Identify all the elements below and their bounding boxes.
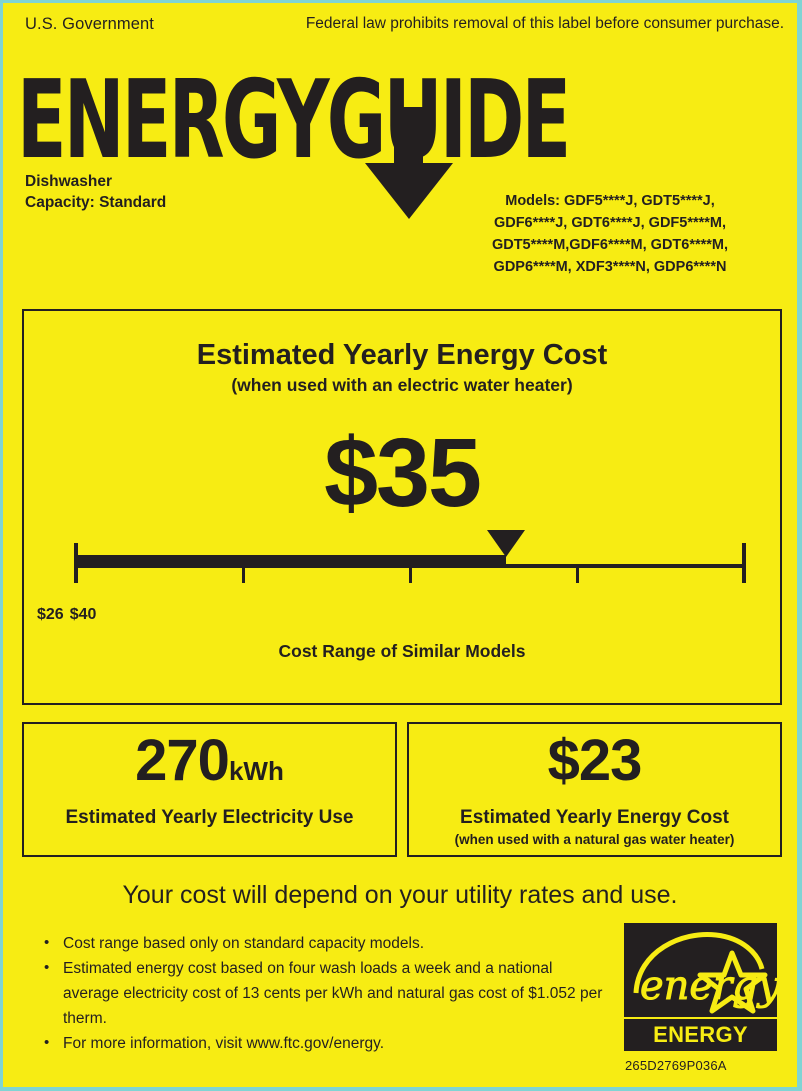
electricity-caption: Estimated Yearly Electricity Use — [24, 807, 395, 829]
svg-text:energy: energy — [640, 963, 777, 1009]
scale-tick — [409, 566, 412, 583]
estimated-yearly-electricity-use-box: 270kWh Estimated Yearly Electricity Use — [22, 722, 397, 857]
cost-range-high: $40 — [70, 606, 97, 623]
electricity-value: 270 — [135, 728, 229, 793]
footer-note: Cost range based only on standard capaci… — [41, 931, 611, 956]
footer-notes: Cost range based only on standard capaci… — [41, 931, 611, 1056]
scale-tick — [576, 566, 579, 583]
scale-endcap-left — [74, 543, 78, 583]
model-numbers: Models: GDF5****J, GDT5****J, GDF6****J,… — [445, 190, 775, 278]
gas-cost-subcaption: (when used with a natural gas water heat… — [409, 832, 780, 847]
scale-endcap-right — [742, 543, 746, 583]
electricity-unit: kWh — [229, 756, 284, 786]
gas-cost-caption: Estimated Yearly Energy Cost — [409, 807, 780, 829]
footer-headline: Your cost will depend on your utility ra… — [3, 881, 797, 910]
energy-star-mark-icon: energy — [624, 923, 777, 1017]
footer-note: Estimated energy cost based on four wash… — [41, 956, 611, 1031]
main-cost-value: $35 — [24, 423, 780, 523]
model-line: GDT5****M,GDF6****M, GDT6****M, — [445, 234, 775, 256]
energy-star-logo: energy ENERGY STAR — [624, 923, 777, 1053]
electricity-value-row: 270kWh — [24, 730, 395, 802]
cost-range-caption: Cost Range of Similar Models — [24, 641, 780, 662]
gas-cost-value: $23 — [409, 730, 780, 792]
down-arrow-stem-icon — [394, 107, 423, 169]
energy-star-label: ENERGY STAR — [624, 1019, 777, 1051]
part-number: 265D2769P036A — [625, 1058, 727, 1073]
main-cost-subtitle: (when used with an electric water heater… — [24, 375, 780, 396]
estimated-yearly-gas-cost-box: $23 Estimated Yearly Energy Cost (when u… — [407, 722, 782, 857]
estimated-yearly-energy-cost-box: Estimated Yearly Energy Cost (when used … — [22, 309, 782, 705]
scale-filled-range — [75, 555, 506, 568]
main-cost-title: Estimated Yearly Energy Cost — [24, 339, 780, 372]
cost-marker-icon — [487, 530, 525, 557]
footer-note: For more information, visit www.ftc.gov/… — [41, 1031, 611, 1056]
appliance-capacity: Capacity: Standard — [25, 192, 166, 213]
cost-range-labels: $26$40 — [37, 606, 102, 624]
cost-range-low: $26 — [37, 606, 64, 623]
appliance-info: Dishwasher Capacity: Standard — [25, 171, 166, 213]
model-line: GDF6****J, GDT6****J, GDF5****M, — [445, 212, 775, 234]
agency-label: U.S. Government — [25, 15, 154, 34]
down-arrow-icon — [365, 163, 453, 219]
appliance-type: Dishwasher — [25, 171, 166, 192]
energyguide-label: U.S. Government Federal law prohibits re… — [3, 3, 797, 1087]
legal-notice: Federal law prohibits removal of this la… — [306, 15, 784, 33]
model-line: Models: GDF5****J, GDT5****J, — [445, 190, 775, 212]
model-line: GDP6****M, XDF3****N, GDP6****N — [445, 256, 775, 278]
scale-tick — [242, 566, 245, 583]
cost-range-scale — [75, 536, 745, 596]
